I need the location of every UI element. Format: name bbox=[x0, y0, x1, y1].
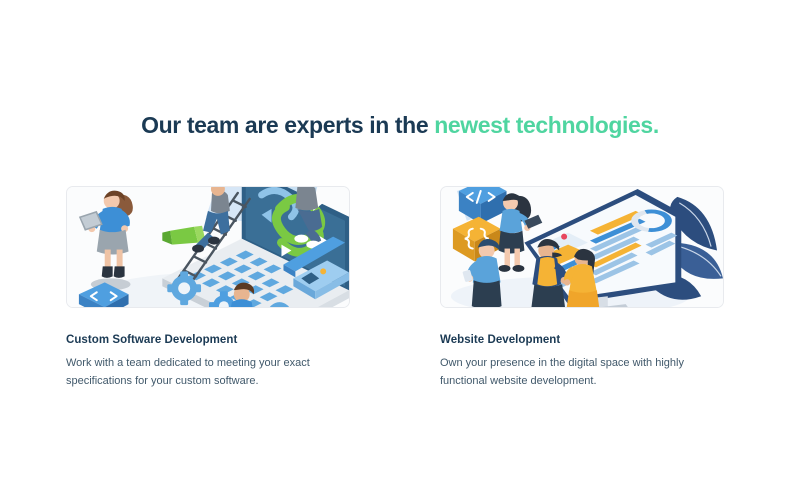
isometric-website-monitor-illustration bbox=[441, 187, 723, 308]
page-title-plain: Our team are experts in the bbox=[141, 112, 434, 138]
isometric-laptop-devops-illustration bbox=[67, 187, 349, 308]
page-title: Our team are experts in the newest techn… bbox=[0, 112, 800, 139]
card-thumbnail bbox=[440, 186, 724, 308]
card-title: Custom Software Development bbox=[66, 334, 350, 346]
service-card-website-development[interactable]: Website Development Own your presence in… bbox=[440, 186, 724, 390]
cards-row: Custom Software Development Work with a … bbox=[0, 186, 800, 386]
card-description: Work with a team dedicated to meeting yo… bbox=[66, 355, 338, 390]
card-description: Own your presence in the digital space w… bbox=[440, 355, 712, 390]
service-card-custom-software[interactable]: Custom Software Development Work with a … bbox=[66, 186, 350, 390]
card-thumbnail bbox=[66, 186, 350, 308]
card-title: Website Development bbox=[440, 334, 724, 346]
page-root: Our team are experts in the newest techn… bbox=[0, 0, 800, 480]
page-title-accent: newest technologies. bbox=[434, 112, 659, 138]
